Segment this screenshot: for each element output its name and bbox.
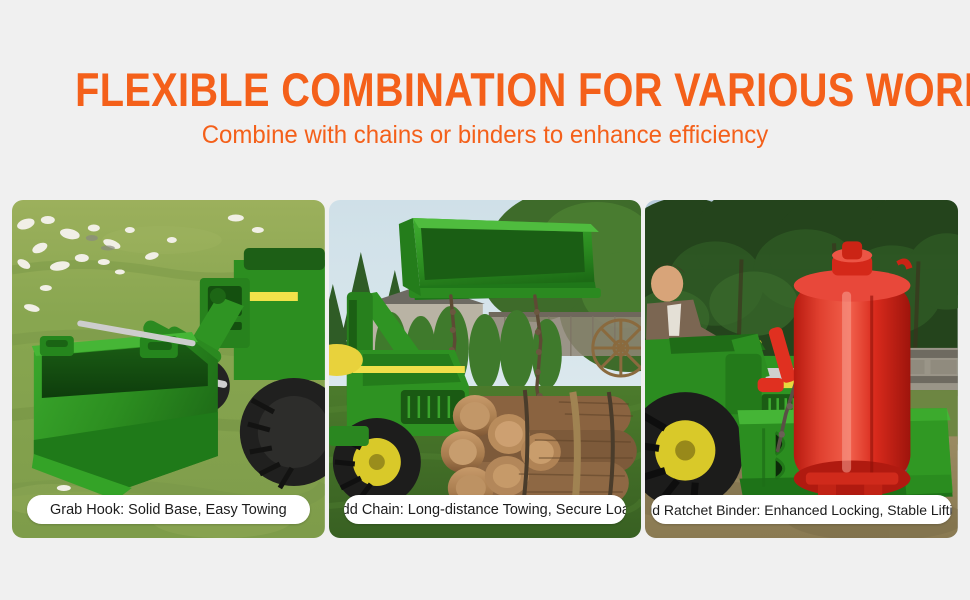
feature-panel-add-chain: Add Chain: Long-distance Towing, Secure … (329, 200, 642, 538)
page-subtitle: Combine with chains or binders to enhanc… (19, 121, 950, 150)
feature-panel-row: Grab Hook: Solid Base, Easy Towing (12, 200, 958, 538)
add-chain-photo (329, 200, 642, 538)
promo-banner: FLEXIBLE COMBINATION FOR VARIOUS WORK NE… (0, 0, 970, 600)
grab-hook-photo (12, 200, 325, 538)
panel-caption: Grab Hook: Solid Base, Easy Towing (27, 495, 310, 524)
feature-panel-add-ratchet-binder: Add Ratchet Binder: Enhanced Locking, St… (645, 200, 958, 538)
panel-caption: Add Ratchet Binder: Enhanced Locking, St… (651, 495, 952, 524)
panel-caption: Add Chain: Long-distance Towing, Secure … (344, 495, 627, 524)
page-title: FLEXIBLE COMBINATION FOR VARIOUS WORK NE… (75, 66, 895, 113)
feature-panel-grab-hook: Grab Hook: Solid Base, Easy Towing (12, 200, 325, 538)
banner-header: FLEXIBLE COMBINATION FOR VARIOUS WORK NE… (0, 0, 970, 190)
add-ratchet-binder-photo (645, 200, 958, 538)
